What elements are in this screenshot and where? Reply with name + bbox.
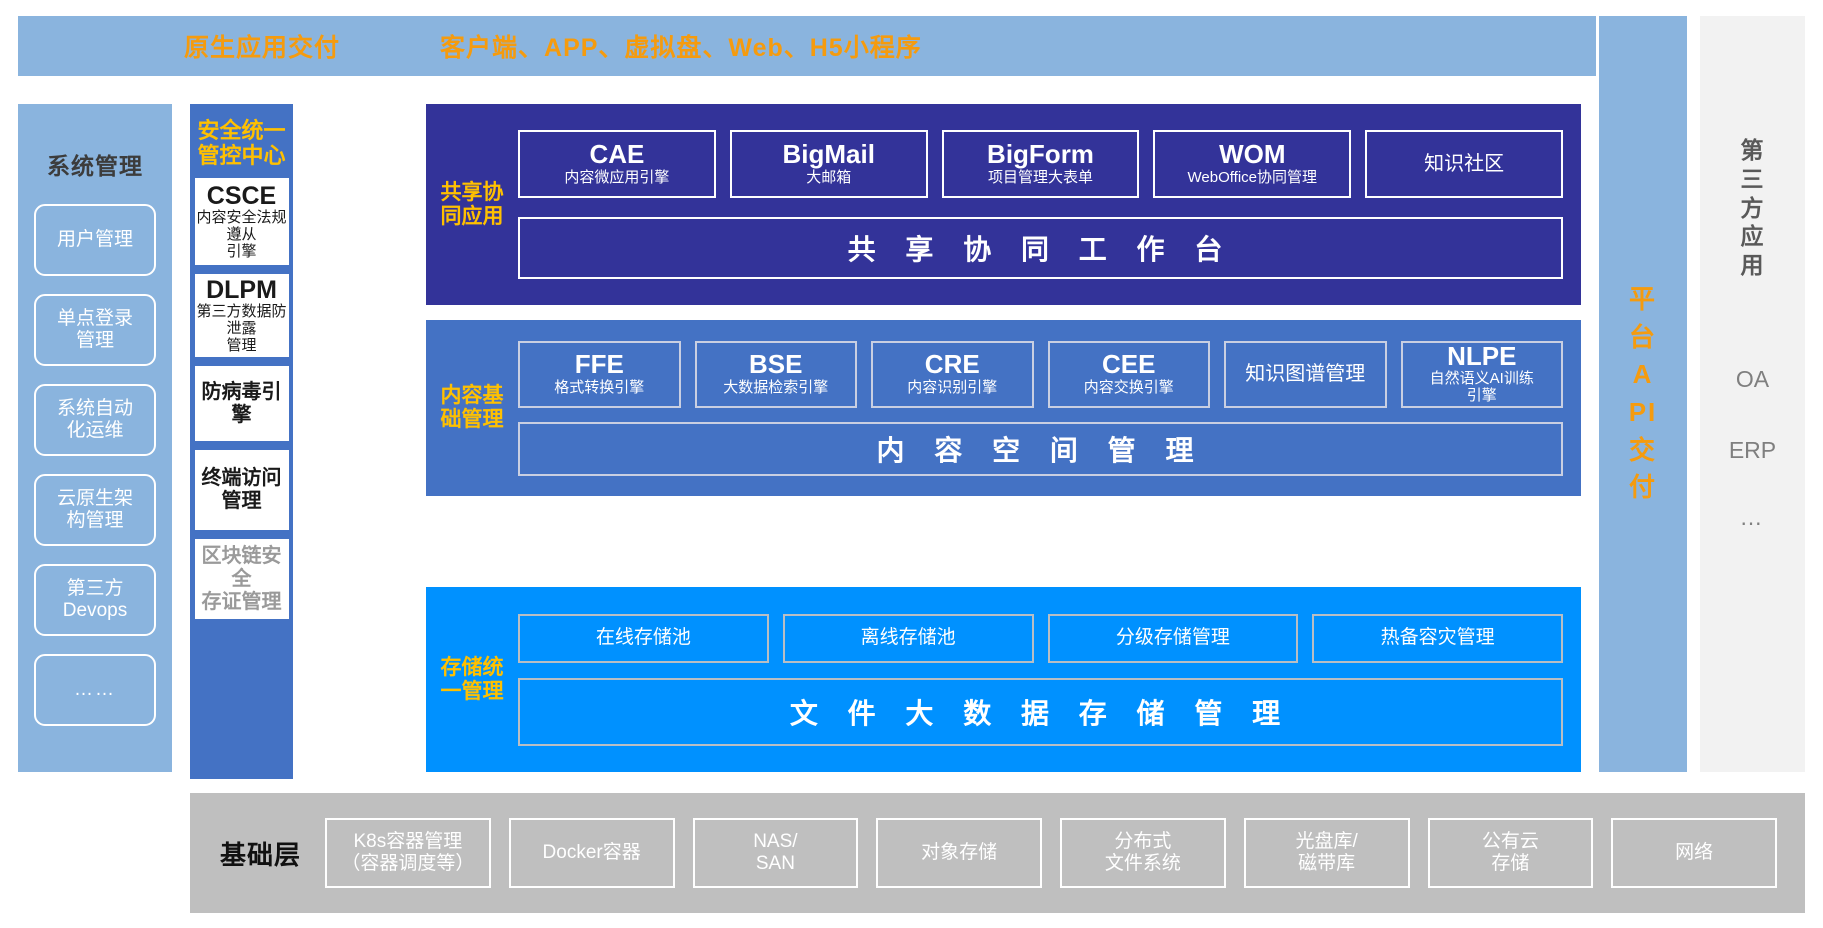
collab-chip-bigform-acronym: BigForm — [987, 141, 1094, 168]
content-chip-bse[interactable]: BSE 大数据检索引擎 — [695, 341, 858, 408]
security-card-blockchain-evidence-management[interactable]: 区块链安全存证管理 — [195, 539, 289, 619]
sysmgmt-item-more[interactable]: …… — [34, 654, 156, 726]
sysmgmt-item-automated-ops[interactable]: 系统自动化运维 — [34, 384, 156, 456]
content-chip-bse-acronym: BSE — [749, 351, 802, 378]
collab-chip-cae-acronym: CAE — [589, 141, 644, 168]
unified-storage-management-layer-label: 存储统一管理 — [426, 656, 518, 703]
collab-chip-wom-subtitle: WebOffice协同管理 — [1188, 170, 1317, 187]
infra-chip-distributed-filesystem[interactable]: 分布式文件系统 — [1060, 818, 1226, 888]
shared-collaboration-layer-body: CAE 内容微应用引擎 BigMail 大邮箱 BigForm 项目管理大表单 … — [518, 130, 1581, 279]
third-party-item-erp[interactable]: ERP — [1729, 437, 1776, 464]
collab-chip-bigmail[interactable]: BigMail 大邮箱 — [730, 130, 928, 198]
storage-chip-online-pool-label: 在线存储池 — [596, 627, 691, 649]
collab-chip-bigmail-subtitle: 大邮箱 — [806, 170, 851, 187]
collab-chip-bigform-subtitle: 项目管理大表单 — [988, 170, 1093, 187]
third-party-item-more[interactable]: … — [1740, 504, 1766, 531]
system-management-title: 系统管理 — [47, 147, 143, 181]
infrastructure-layer-title: 基础层 — [220, 835, 301, 872]
content-base-management-layer: 内容基础管理 FFE 格式转换引擎 BSE 大数据检索引擎 CRE 内容识别引擎… — [426, 320, 1581, 496]
security-card-dlpm-subtitle: 第三方数据防泄露管理 — [195, 304, 289, 354]
content-base-management-layer-body: FFE 格式转换引擎 BSE 大数据检索引擎 CRE 内容识别引擎 CEE 内容… — [518, 341, 1581, 476]
unified-storage-management-layer: 存储统一管理 在线存储池 离线存储池 分级存储管理 热备容灾管理 文 件 大 数… — [426, 587, 1581, 772]
content-chip-nlpe-subtitle: 自然语义AI训练引擎 — [1430, 371, 1534, 405]
security-control-center-column: 安全统一管控中心 CSCE 内容安全法规遵从引擎 DLPM 第三方数据防泄露管理… — [190, 104, 293, 779]
collab-chip-bigform[interactable]: BigForm 项目管理大表单 — [942, 130, 1140, 198]
security-card-terminal-access-management[interactable]: 终端访问管理 — [195, 450, 289, 530]
file-bigdata-storage-management-bar[interactable]: 文 件 大 数 据 存 储 管 理 — [518, 678, 1563, 746]
security-card-terminal-access-management-label: 终端访问管理 — [202, 467, 282, 513]
architecture-diagram: 原生应用交付 客户端、APP、虚拟盘、Web、H5小程序 系统管理 用户管理 单… — [0, 0, 1823, 928]
sysmgmt-item-sso-management[interactable]: 单点登录管理 — [34, 294, 156, 366]
content-chip-cee[interactable]: CEE 内容交换引擎 — [1048, 341, 1211, 408]
storage-chip-hot-standby-dr-label: 热备容灾管理 — [1381, 627, 1495, 649]
security-card-blockchain-evidence-management-label: 区块链安全存证管理 — [195, 545, 289, 614]
collab-chip-bigmail-acronym: BigMail — [782, 141, 874, 168]
collab-chip-cae[interactable]: CAE 内容微应用引擎 — [518, 130, 716, 198]
content-chip-knowledge-graph[interactable]: 知识图谱管理 — [1224, 341, 1387, 408]
shared-collaboration-chip-row: CAE 内容微应用引擎 BigMail 大邮箱 BigForm 项目管理大表单 … — [518, 130, 1563, 198]
content-chip-cre[interactable]: CRE 内容识别引擎 — [871, 341, 1034, 408]
platform-api-delivery-column: 平台API交付 — [1599, 16, 1687, 772]
collab-chip-knowledge-community-label: 知识社区 — [1424, 153, 1504, 176]
shared-collaboration-layer-label: 共享协同应用 — [426, 181, 518, 228]
security-card-csce[interactable]: CSCE 内容安全法规遵从引擎 — [195, 178, 289, 265]
storage-chip-hot-standby-dr[interactable]: 热备容灾管理 — [1312, 614, 1563, 663]
native-app-delivery-banner: 原生应用交付 客户端、APP、虚拟盘、Web、H5小程序 — [18, 16, 1596, 76]
content-base-management-layer-label: 内容基础管理 — [426, 384, 518, 431]
banner-left-label: 原生应用交付 — [184, 28, 340, 64]
third-party-applications-title: 第三方应用 — [1738, 136, 1768, 280]
content-chip-ffe[interactable]: FFE 格式转换引擎 — [518, 341, 681, 408]
banner-right-label: 客户端、APP、虚拟盘、Web、H5小程序 — [440, 28, 922, 64]
platform-api-delivery-label: 平台API交付 — [1626, 281, 1660, 507]
unified-storage-management-layer-body: 在线存储池 离线存储池 分级存储管理 热备容灾管理 文 件 大 数 据 存 储 … — [518, 614, 1581, 746]
storage-chip-tiered-storage-label: 分级存储管理 — [1116, 627, 1230, 649]
content-chip-bse-subtitle: 大数据检索引擎 — [723, 380, 828, 397]
infra-chip-object-storage[interactable]: 对象存储 — [876, 818, 1042, 888]
content-base-chip-row: FFE 格式转换引擎 BSE 大数据检索引擎 CRE 内容识别引擎 CEE 内容… — [518, 341, 1563, 408]
infra-chip-docker-container[interactable]: Docker容器 — [509, 818, 675, 888]
security-card-dlpm[interactable]: DLPM 第三方数据防泄露管理 — [195, 274, 289, 357]
storage-chip-tiered-storage[interactable]: 分级存储管理 — [1048, 614, 1299, 663]
content-chip-cre-acronym: CRE — [925, 351, 980, 378]
infra-chip-optical-tape-library[interactable]: 光盘库/磁带库 — [1244, 818, 1410, 888]
system-management-column: 系统管理 用户管理 单点登录管理 系统自动化运维 云原生架构管理 第三方Devo… — [18, 104, 172, 772]
infra-chip-network[interactable]: 网络 — [1611, 818, 1777, 888]
third-party-item-oa[interactable]: OA — [1736, 366, 1769, 393]
storage-chip-online-pool[interactable]: 在线存储池 — [518, 614, 769, 663]
content-chip-ffe-acronym: FFE — [575, 351, 624, 378]
collab-chip-knowledge-community[interactable]: 知识社区 — [1365, 130, 1563, 198]
infra-chip-k8s-container-management[interactable]: K8s容器管理（容器调度等） — [325, 818, 491, 888]
collab-chip-wom[interactable]: WOM WebOffice协同管理 — [1153, 130, 1351, 198]
security-center-title: 安全统一管控中心 — [197, 119, 285, 168]
shared-collaboration-layer: 共享协同应用 CAE 内容微应用引擎 BigMail 大邮箱 BigForm 项… — [426, 104, 1581, 305]
sysmgmt-item-cloud-native-arch[interactable]: 云原生架构管理 — [34, 474, 156, 546]
collab-chip-wom-acronym: WOM — [1219, 141, 1285, 168]
sysmgmt-item-third-party-devops[interactable]: 第三方Devops — [34, 564, 156, 636]
storage-chip-row: 在线存储池 离线存储池 分级存储管理 热备容灾管理 — [518, 614, 1563, 663]
infrastructure-layer-bar: 基础层 K8s容器管理（容器调度等） Docker容器 NAS/SAN 对象存储… — [190, 793, 1805, 913]
sysmgmt-item-user-management[interactable]: 用户管理 — [34, 204, 156, 276]
content-chip-cre-subtitle: 内容识别引擎 — [907, 380, 997, 397]
shared-collaboration-workbench-bar[interactable]: 共 享 协 同 工 作 台 — [518, 217, 1563, 279]
collab-chip-cae-subtitle: 内容微应用引擎 — [564, 170, 669, 187]
content-chip-cee-acronym: CEE — [1102, 351, 1155, 378]
security-card-dlpm-acronym: DLPM — [206, 277, 277, 303]
security-card-csce-subtitle: 内容安全法规遵从引擎 — [195, 210, 289, 260]
storage-chip-offline-pool[interactable]: 离线存储池 — [783, 614, 1034, 663]
content-chip-cee-subtitle: 内容交换引擎 — [1084, 380, 1174, 397]
security-card-csce-acronym: CSCE — [207, 183, 276, 209]
content-chip-nlpe-acronym: NLPE — [1447, 343, 1516, 370]
security-card-antivirus-engine-label: 防病毒引擎 — [195, 381, 289, 427]
content-chip-knowledge-graph-label: 知识图谱管理 — [1245, 363, 1365, 386]
infrastructure-chip-row: K8s容器管理（容器调度等） Docker容器 NAS/SAN 对象存储 分布式… — [325, 818, 1805, 888]
content-chip-ffe-subtitle: 格式转换引擎 — [554, 380, 644, 397]
third-party-applications-column: 第三方应用 OA ERP … — [1700, 16, 1805, 772]
security-card-antivirus-engine[interactable]: 防病毒引擎 — [195, 366, 289, 441]
infra-chip-public-cloud-storage[interactable]: 公有云存储 — [1428, 818, 1594, 888]
infra-chip-nas-san[interactable]: NAS/SAN — [693, 818, 859, 888]
storage-chip-offline-pool-label: 离线存储池 — [861, 627, 956, 649]
content-space-management-bar[interactable]: 内 容 空 间 管 理 — [518, 422, 1563, 476]
content-chip-nlpe[interactable]: NLPE 自然语义AI训练引擎 — [1401, 341, 1564, 408]
